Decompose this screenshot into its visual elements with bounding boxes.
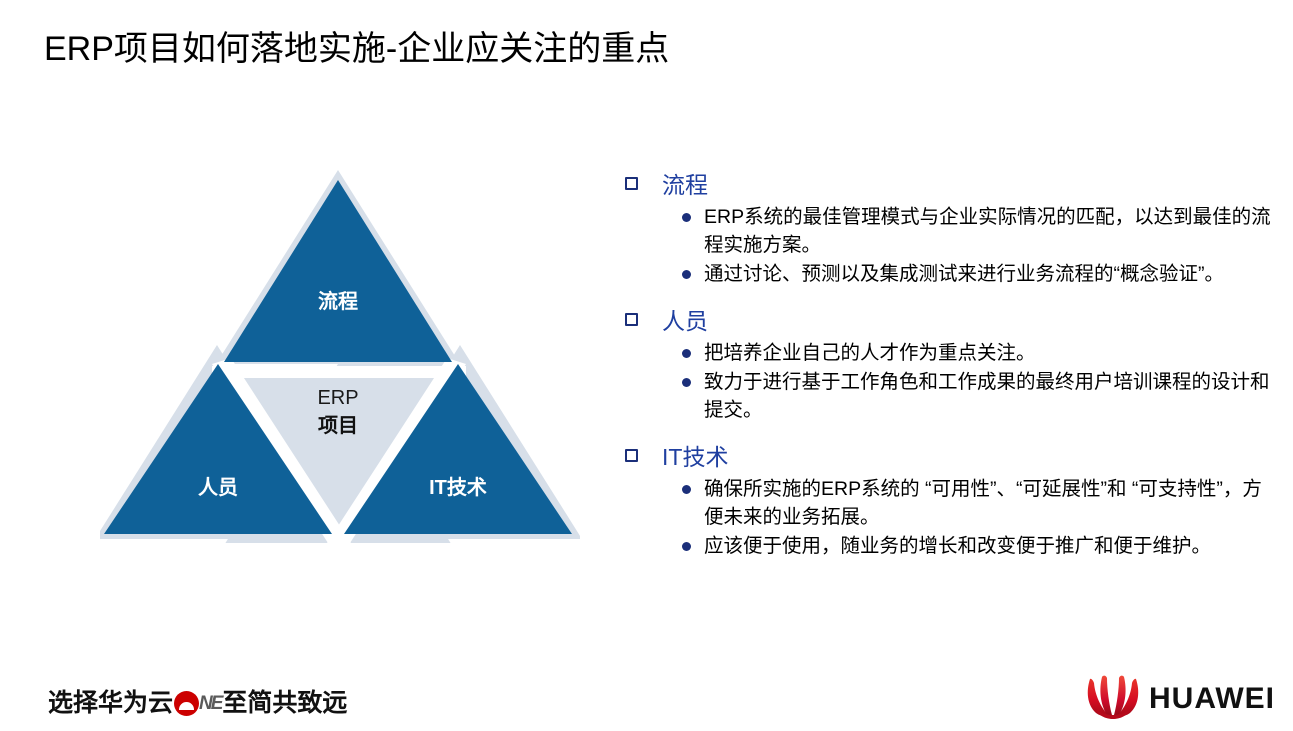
dot-bullet-icon xyxy=(682,485,691,494)
dot-bullet-icon xyxy=(682,542,691,551)
square-bullet-icon xyxy=(625,177,638,190)
section-bullet-list: 把培养企业自己的人才作为重点关注。 致力于进行基于工作角色和工作成果的最终用户培… xyxy=(682,339,1280,424)
dot-bullet-icon xyxy=(682,270,691,279)
section-it-jishu: IT技术 确保所实施的ERP系统的 “可用性”、“可延展性”和 “可支持性”，方… xyxy=(620,442,1280,560)
dot-bullet-icon xyxy=(682,213,691,222)
content-column: 流程 ERP系统的最佳管理模式与企业实际情况的匹配，以达到最佳的流程实施方案。 … xyxy=(620,170,1280,561)
section-bullet-list: 确保所实施的ERP系统的 “可用性”、“可延展性”和 “可支持性”，方便未来的业… xyxy=(682,475,1280,560)
section-title: 流程 xyxy=(662,170,708,200)
section-header: 人员 xyxy=(620,306,1280,336)
triangle-top-label: 流程 xyxy=(318,289,358,313)
list-item: 应该便于使用，随业务的增长和改变便于推广和便于维护。 xyxy=(682,532,1280,560)
slogan-prefix: 选择华为云 xyxy=(48,686,173,720)
section-header: 流程 xyxy=(620,170,1280,200)
slogan-suffix: 至简共致远 xyxy=(222,686,347,720)
list-item: ERP系统的最佳管理模式与企业实际情况的匹配，以达到最佳的流程实施方案。 xyxy=(682,203,1280,259)
list-item: 致力于进行基于工作角色和工作成果的最终用户培训课程的设计和提交。 xyxy=(682,368,1280,424)
bullet-text: 致力于进行基于工作角色和工作成果的最终用户培训课程的设计和提交。 xyxy=(704,368,1280,424)
triangle-top xyxy=(224,180,452,362)
erp-triangle-diagram: 流程 人员 IT技术 ERP 项目 xyxy=(100,168,580,543)
huawei-brand: HUAWEI xyxy=(1086,676,1275,722)
list-item: 把培养企业自己的人才作为重点关注。 xyxy=(682,339,1280,367)
bullet-text: ERP系统的最佳管理模式与企业实际情况的匹配，以达到最佳的流程实施方案。 xyxy=(704,203,1280,259)
list-item: 确保所实施的ERP系统的 “可用性”、“可延展性”和 “可支持性”，方便未来的业… xyxy=(682,475,1280,531)
dot-bullet-icon xyxy=(682,378,691,387)
square-bullet-icon xyxy=(625,313,638,326)
section-bullet-list: ERP系统的最佳管理模式与企业实际情况的匹配，以达到最佳的流程实施方案。 通过讨… xyxy=(682,203,1280,288)
huawei-flower-logo-icon xyxy=(1086,675,1140,724)
triangle-right-label: IT技术 xyxy=(429,475,487,499)
bullet-text: 应该便于使用，随业务的增长和改变便于推广和便于维护。 xyxy=(704,532,1280,560)
section-title: IT技术 xyxy=(662,442,728,472)
bullet-text: 把培养企业自己的人才作为重点关注。 xyxy=(704,339,1280,367)
section-renyuan: 人员 把培养企业自己的人才作为重点关注。 致力于进行基于工作角色和工作成果的最终… xyxy=(620,306,1280,424)
section-header: IT技术 xyxy=(620,442,1280,472)
one-circle-icon xyxy=(174,691,199,716)
huawei-cloud-one-logo-icon: NE xyxy=(174,691,221,716)
section-title: 人员 xyxy=(662,306,708,336)
dot-bullet-icon xyxy=(682,349,691,358)
section-liucheng: 流程 ERP系统的最佳管理模式与企业实际情况的匹配，以达到最佳的流程实施方案。 … xyxy=(620,170,1280,288)
square-bullet-icon xyxy=(625,449,638,462)
bullet-text: 确保所实施的ERP系统的 “可用性”、“可延展性”和 “可支持性”，方便未来的业… xyxy=(704,475,1280,531)
page-title: ERP项目如何落地实施-企业应关注的重点 xyxy=(44,26,669,72)
huawei-wordmark: HUAWEI xyxy=(1149,682,1275,716)
triangle-left-label: 人员 xyxy=(198,476,238,499)
one-ne-text: NE xyxy=(199,691,221,716)
slide-root: ERP项目如何落地实施-企业应关注的重点 xyxy=(0,0,1293,731)
triangle-center-label-line1: ERP xyxy=(317,387,358,409)
triangle-center-label-line2: 项目 xyxy=(318,414,358,437)
bullet-text: 通过讨论、预测以及集成测试来进行业务流程的“概念验证”。 xyxy=(704,260,1280,288)
footer-slogan: 选择华为云 NE 至简共致远 xyxy=(48,686,347,720)
list-item: 通过讨论、预测以及集成测试来进行业务流程的“概念验证”。 xyxy=(682,260,1280,288)
